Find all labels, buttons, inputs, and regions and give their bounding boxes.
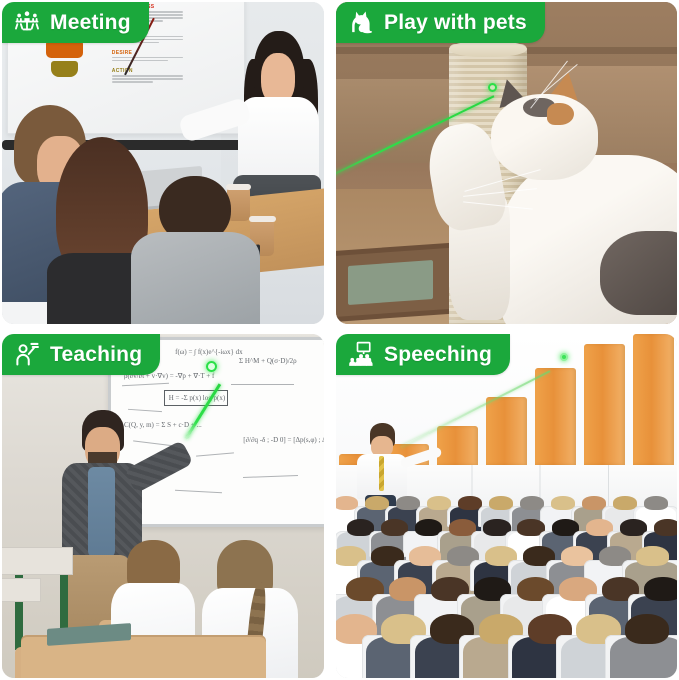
audience-member-head — [396, 496, 420, 510]
speaker-tie — [379, 456, 384, 492]
panel-play-with-pets[interactable]: Play with pets — [336, 0, 679, 334]
board-equation: [∂/∂q -δ ; -D 0] = [Δp(s,φ) ; ΔM(s,φ)] — [243, 436, 324, 444]
audience-member-head — [636, 546, 668, 566]
panel-meeting[interactable]: AWARENESS INTEREST DESIRE ACTION — [0, 0, 336, 334]
funnel-segment-action — [51, 61, 79, 77]
cat-head — [491, 94, 598, 179]
meeting-scene: AWARENESS INTEREST DESIRE ACTION — [2, 2, 324, 324]
person-pointing-icon — [13, 340, 41, 368]
badge-speeching: Speeching — [336, 334, 510, 375]
audience-member-head — [654, 519, 677, 536]
badge-label-speeching: Speeching — [384, 344, 492, 365]
scratching-post-top — [449, 41, 527, 57]
bar-3 — [437, 426, 478, 465]
badge-play-with-pets: Play with pets — [336, 2, 545, 43]
speeching-scene — [336, 334, 677, 678]
attendee-man-suit — [131, 176, 260, 324]
laser-dot-speeching — [560, 353, 568, 361]
slide-heading-action: ACTION — [112, 68, 183, 74]
funnel-segment-desire — [46, 41, 82, 58]
laser-dot-pets — [488, 83, 497, 92]
classroom-desk — [2, 547, 73, 575]
audience-member-head — [582, 496, 606, 510]
slide-body-desire — [112, 57, 183, 61]
cat-body — [500, 155, 677, 324]
panel-teaching-image: f(ω) = ∫ f(x)e^{-iωx} dx ρ(∂v/∂t + v·∇v)… — [2, 334, 324, 678]
people-at-table-icon — [13, 8, 41, 36]
panel-meeting-image: AWARENESS INTEREST DESIRE ACTION — [2, 2, 324, 324]
badge-label-pets: Play with pets — [384, 12, 527, 33]
pets-scene — [336, 2, 677, 324]
classroom-desk — [2, 578, 41, 602]
board-equation: f(ω) = ∫ f(x)e^{-iωx} dx — [175, 348, 242, 356]
cat-icon — [347, 8, 375, 36]
board-equation: Σ H^M + Q(σ·D)/2ρ — [239, 357, 297, 365]
presentation-audience-icon — [347, 340, 375, 368]
cat — [459, 79, 677, 324]
audience-member-head — [625, 614, 669, 644]
panel-pets-image: Play with pets — [336, 2, 677, 324]
audience — [336, 492, 677, 678]
badge-label-teaching: Teaching — [50, 344, 142, 365]
audience-member-head — [520, 496, 544, 510]
bar-6 — [584, 344, 625, 464]
badge-label-meeting: Meeting — [50, 12, 131, 33]
board-equation: H = -Σ p(x) log p(x) — [169, 394, 225, 402]
panel-speeching-image: Speeching — [336, 334, 677, 678]
panel-speeching[interactable]: Speeching — [336, 334, 679, 680]
audience-member-head — [613, 496, 637, 510]
audience-member-head — [427, 496, 451, 510]
rug — [336, 242, 462, 323]
audience-member-head — [644, 577, 677, 601]
bar-5 — [535, 368, 576, 465]
badge-teaching: Teaching — [2, 334, 160, 375]
audience-member-head — [365, 496, 389, 510]
audience-member-head — [551, 496, 575, 510]
audience-member-head — [458, 496, 482, 510]
teaching-scene: f(ω) = ∫ f(x)e^{-iωx} dx ρ(∂v/∂t + v·∇v)… — [2, 334, 324, 678]
audience-member-head — [644, 496, 668, 510]
use-case-collage: AWARENESS INTEREST DESIRE ACTION — [0, 0, 679, 680]
slide-heading-desire: DESIRE — [112, 50, 183, 56]
badge-meeting: Meeting — [2, 2, 149, 43]
bar-7 — [633, 334, 674, 465]
slide-body-action — [112, 75, 183, 82]
audience-member-head — [489, 496, 513, 510]
panel-teaching[interactable]: f(ω) = ∫ f(x)e^{-iωx} dx ρ(∂v/∂t + v·∇v)… — [0, 334, 336, 680]
bar-4 — [486, 397, 527, 465]
